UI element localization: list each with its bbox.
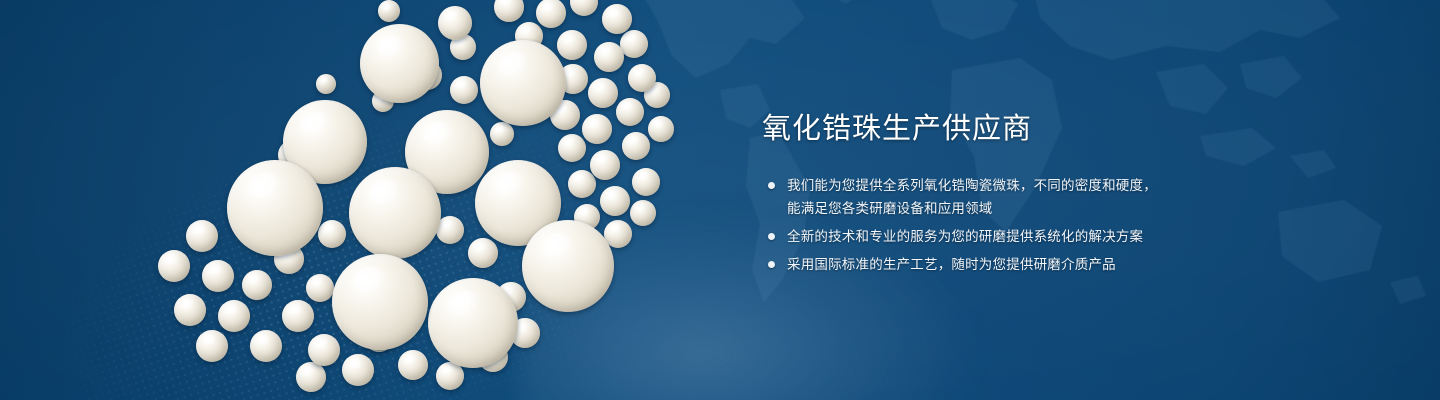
zirconia-bead [342,354,374,386]
page-title: 氧化锆珠生产供应商 [762,110,1242,148]
feature-bullet-text: 采用国际标准的生产工艺，随时为您提供研磨介质产品 [787,253,1242,276]
feature-bullet-item: 采用国际标准的生产工艺，随时为您提供研磨介质产品 [762,253,1242,276]
feature-bullet-text: 能满足您各类研磨设备和应用领域 [787,197,1242,220]
zirconia-bead [570,0,598,16]
zirconia-bead [616,98,644,126]
zirconia-bead [202,260,234,292]
zirconia-bead [558,134,586,162]
zirconia-bead [590,150,620,180]
zirconia-bead [349,167,441,259]
zirconia-bead [628,64,656,92]
zirconia-bead [250,330,282,362]
zirconia-bead [308,334,340,366]
zirconia-bead [428,278,518,368]
zirconia-bead [398,350,428,380]
zirconia-bead [360,24,439,103]
zirconia-bead [632,168,660,196]
zirconia-bead [318,220,346,248]
zirconia-beads-image [150,0,750,400]
zirconia-bead [378,0,400,22]
zirconia-bead [490,122,514,146]
zirconia-bead [316,74,336,94]
zirconia-bead [557,30,587,60]
zirconia-bead [582,114,612,144]
hero-banner: 氧化锆珠生产供应商 我们能为您提供全系列氧化锆陶瓷微珠，不同的密度和硬度，能满足… [0,0,1440,400]
zirconia-bead [620,30,648,58]
zirconia-bead [196,330,228,362]
zirconia-bead [438,6,472,40]
zirconia-bead [282,300,314,332]
zirconia-bead [600,186,630,216]
feature-bullet-list: 我们能为您提供全系列氧化锆陶瓷微珠，不同的密度和硬度，能满足您各类研磨设备和应用… [762,174,1242,276]
feature-bullet-item: 我们能为您提供全系列氧化锆陶瓷微珠，不同的密度和硬度，能满足您各类研磨设备和应用… [762,174,1242,220]
banner-copy: 氧化锆珠生产供应商 我们能为您提供全系列氧化锆陶瓷微珠，不同的密度和硬度，能满足… [762,110,1242,276]
zirconia-bead [536,0,566,28]
zirconia-bead [588,78,618,108]
zirconia-bead [186,220,218,252]
zirconia-bead [622,132,650,160]
feature-bullet-item: 全新的技术和专业的服务为您的研磨提供系统化的解决方案 [762,225,1242,248]
zirconia-bead [594,42,624,72]
zirconia-bead [218,300,250,332]
zirconia-bead [568,170,596,198]
zirconia-bead [494,0,524,22]
zirconia-bead [332,254,428,350]
zirconia-bead [450,76,478,104]
zirconia-bead [522,220,614,312]
zirconia-bead [174,294,206,326]
dot-bullet-icon [768,233,775,240]
zirconia-bead [480,40,566,126]
zirconia-bead [158,250,190,282]
zirconia-bead [630,200,656,226]
zirconia-bead [602,4,632,34]
dot-bullet-icon [768,261,775,268]
zirconia-bead [242,270,272,300]
dot-bullet-icon [768,182,775,189]
zirconia-bead [306,274,334,302]
zirconia-bead [227,160,323,256]
feature-bullet-text: 我们能为您提供全系列氧化锆陶瓷微珠，不同的密度和硬度， [787,174,1242,197]
feature-bullet-text: 全新的技术和专业的服务为您的研磨提供系统化的解决方案 [787,225,1242,248]
zirconia-bead [468,238,498,268]
zirconia-bead [296,362,326,392]
zirconia-bead [648,116,674,142]
